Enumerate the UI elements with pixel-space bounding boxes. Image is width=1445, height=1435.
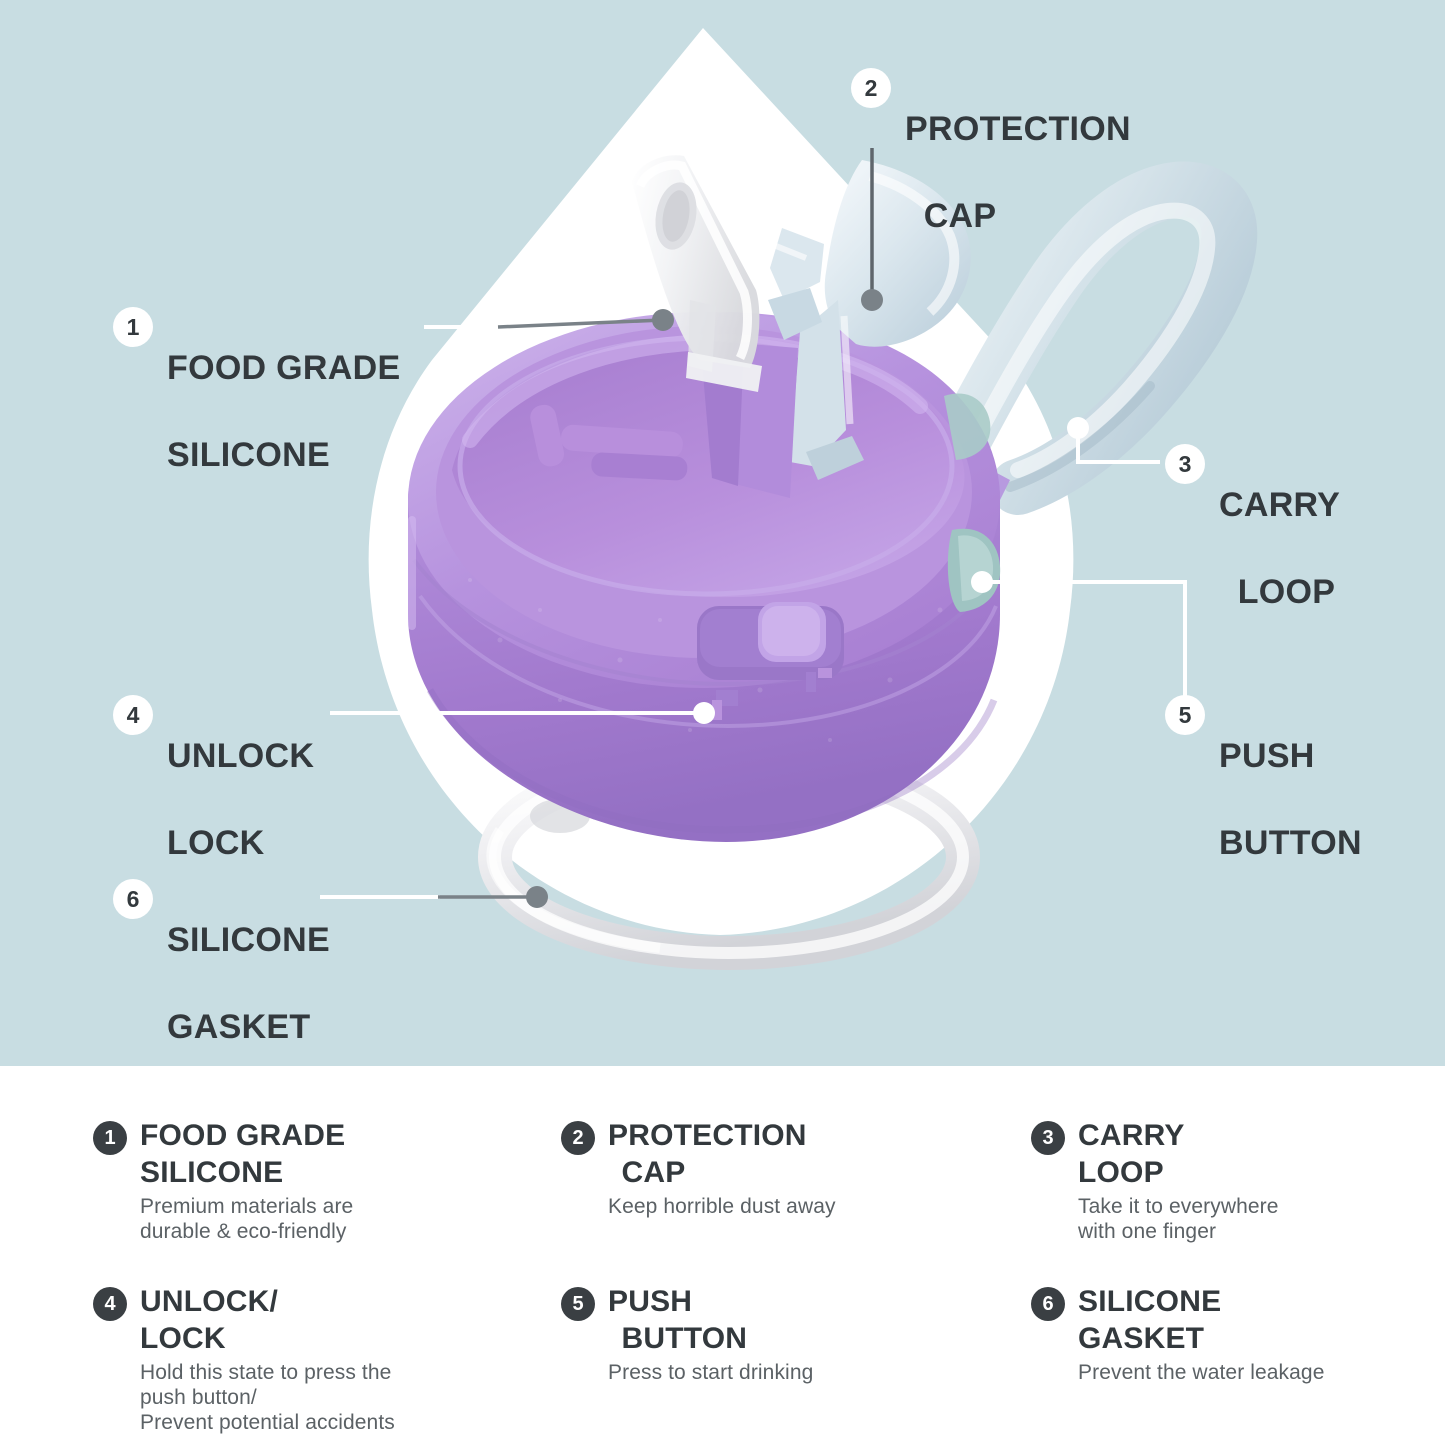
callout-badge-6: 6 <box>113 879 153 919</box>
legend-badge-1: 1 <box>93 1121 127 1155</box>
legend-desc-5: Press to start drinking <box>608 1361 813 1386</box>
callout-1: 1 FOOD GRADE SILICONE <box>113 303 400 477</box>
legend-4-line2: LOCK <box>140 1321 395 1358</box>
legend-desc-4: Hold this state to press the push button… <box>140 1361 395 1435</box>
callout-badge-5: 5 <box>1165 695 1205 735</box>
callout-label-5: PUSH BUTTON <box>1219 691 1362 865</box>
legend-1-line1: FOOD GRADE <box>140 1119 345 1152</box>
callout-6-line2: GASKET <box>167 1008 310 1046</box>
legend-badge-5: 5 <box>561 1287 595 1321</box>
legend-title-6: SILICONE GASKET <box>1078 1284 1324 1357</box>
callout-4-line1: UNLOCK <box>167 735 314 779</box>
callout-badge-1: 1 <box>113 307 153 347</box>
legend-2-line2: CAP <box>608 1155 836 1192</box>
callout-1-line1: FOOD GRADE <box>167 347 400 391</box>
callout-4: 4 UNLOCK LOCK <box>113 691 314 865</box>
callout-5-line2: BUTTON <box>1219 824 1362 862</box>
legend-desc-1: Premium materials are durable & eco-frie… <box>140 1195 353 1245</box>
lid-body <box>408 312 1000 842</box>
callout-4-line2: LOCK <box>167 824 265 862</box>
callout-badge-2: 2 <box>851 68 891 108</box>
callout-3-line2: LOOP <box>1219 571 1340 615</box>
legend-item-4: 4 UNLOCK/ LOCK Hold this state to press … <box>93 1284 513 1435</box>
callout-3: 3 CARRY LOOP <box>1165 440 1340 658</box>
legend-title-1: FOOD GRADE SILICONE <box>140 1118 353 1191</box>
legend-desc-3: Take it to everywhere with one finger <box>1078 1195 1279 1245</box>
callout-2-line1: PROTECTION <box>905 108 1131 152</box>
callout-label-2: PROTECTION CAP <box>905 64 1131 282</box>
callout-label-6: SILICONE GASKET <box>167 875 330 1049</box>
callout-5: 5 PUSH BUTTON <box>1165 691 1362 865</box>
legend-badge-6: 6 <box>1031 1287 1065 1321</box>
legend-2-line1: PROTECTION <box>608 1119 807 1152</box>
legend-title-3: CARRY LOOP <box>1078 1118 1279 1191</box>
legend-item-2: 2 PROTECTION CAP Keep horrible dust away <box>561 1118 981 1220</box>
callout-2: 2 PROTECTION CAP <box>851 64 1131 282</box>
callout-2-line2: CAP <box>905 195 1131 239</box>
callout-badge-3: 3 <box>1165 444 1205 484</box>
legend-5-line1: PUSH <box>608 1285 692 1318</box>
hero-panel: 1 FOOD GRADE SILICONE 2 PROTECTION CAP 3… <box>0 0 1445 1066</box>
callout-5-line1: PUSH <box>1219 735 1362 779</box>
legend-item-5: 5 PUSH BUTTON Press to start drinking <box>561 1284 981 1386</box>
legend-title-2: PROTECTION CAP <box>608 1118 836 1191</box>
legend-desc-6: Prevent the water leakage <box>1078 1361 1324 1386</box>
legend-6-line1: SILICONE <box>1078 1285 1221 1318</box>
legend-6-line2: GASKET <box>1078 1321 1324 1358</box>
callout-6-line1: SILICONE <box>167 919 330 963</box>
legend-title-5: PUSH BUTTON <box>608 1284 813 1357</box>
legend-badge-3: 3 <box>1031 1121 1065 1155</box>
legend-title-4: UNLOCK/ LOCK <box>140 1284 395 1357</box>
legend-4-line1: UNLOCK/ <box>140 1285 278 1318</box>
legend-3-line2: LOOP <box>1078 1155 1279 1192</box>
legend-desc-2: Keep horrible dust away <box>608 1195 836 1220</box>
callout-label-3: CARRY LOOP <box>1219 440 1340 658</box>
legend-item-6: 6 SILICONE GASKET Prevent the water leak… <box>1031 1284 1431 1386</box>
callout-3-line1: CARRY <box>1219 484 1340 528</box>
callout-label-4: UNLOCK LOCK <box>167 691 314 865</box>
legend-3-line1: CARRY <box>1078 1119 1185 1152</box>
callout-label-1: FOOD GRADE SILICONE <box>167 303 400 477</box>
legend-badge-2: 2 <box>561 1121 595 1155</box>
legend-panel: 1 FOOD GRADE SILICONE Premium materials … <box>0 1066 1445 1417</box>
callout-badge-4: 4 <box>113 695 153 735</box>
callout-6: 6 SILICONE GASKET <box>113 875 330 1049</box>
legend-item-1: 1 FOOD GRADE SILICONE Premium materials … <box>93 1118 513 1245</box>
legend-1-line2: SILICONE <box>140 1155 353 1192</box>
legend-5-line2: BUTTON <box>608 1321 813 1358</box>
legend-badge-4: 4 <box>93 1287 127 1321</box>
legend-item-3: 3 CARRY LOOP Take it to everywhere with … <box>1031 1118 1431 1245</box>
callout-1-line2: SILICONE <box>167 436 330 474</box>
